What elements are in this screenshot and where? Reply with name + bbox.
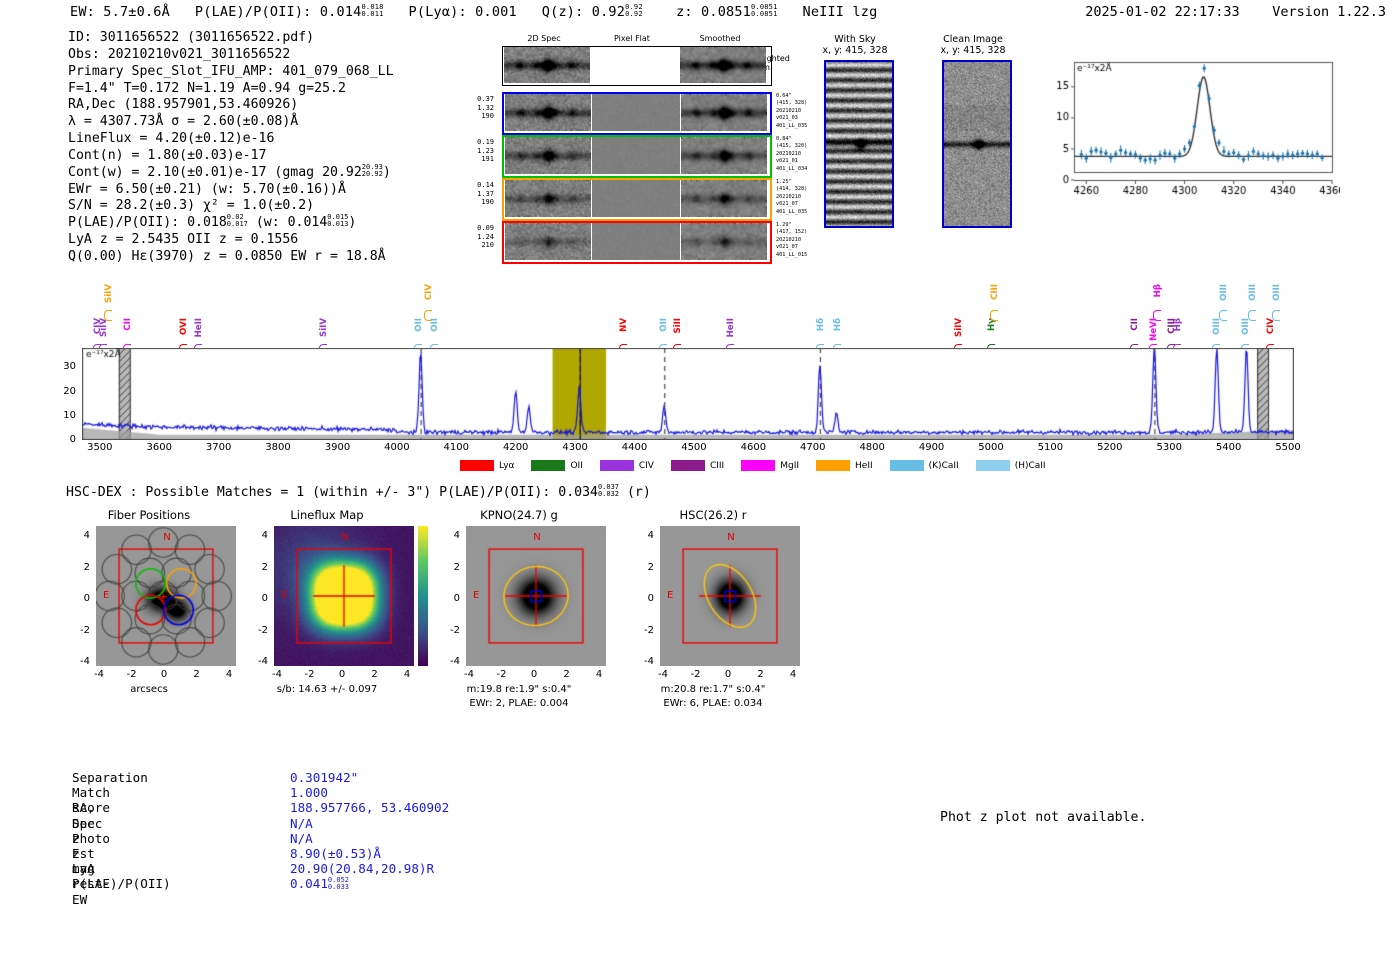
cutout-panel: Fiber Positions420-2-4-4-2024arcsecsNE [62,508,236,718]
cutout-y-tick: 4 [62,530,90,541]
spec2d-row[interactable] [502,135,772,178]
legend-label: MgII [780,461,799,471]
clean-image-label: Clean Image [918,34,1028,45]
spectrum-x-tick: 4300 [553,442,597,453]
info-cont-w-tail: ) [383,165,391,180]
target-info-block: ID: 3011656522 (3011656522.pdf) Obs: 202… [68,30,394,266]
spectrum-x-tick: 4200 [494,442,538,453]
cutout-x-tick: 4 [782,669,804,680]
legend-item: OII [531,460,582,471]
legend-item: (H)CaII [976,460,1046,471]
spec2d-col-header-pixelflat: Pixel Flat [592,34,672,43]
legend-swatch [741,460,775,471]
cutout-caption-2: EWr: 2, PLAE: 0.004 [432,698,606,709]
spectrum-x-tick: 4100 [434,442,478,453]
spectrum-line-bracket [1153,310,1161,321]
spectrum-line-label: NV [619,318,629,332]
match-row-value: 0.0410.0520.033 [290,876,349,892]
spec2d-stat-value: 191 [460,155,494,164]
legend-item: HeII [816,460,873,471]
spectrum-x-tick: 5200 [1088,442,1132,453]
clean-image-title: Clean Image x, y: 415, 328 [918,34,1028,56]
cutout-panel-title: HSC(26.2) r [626,508,800,522]
header-ew: EW: 5.7±0.6Å [70,4,170,20]
legend-label: (H)CaII [1015,461,1046,471]
spec2d-stat-value: 1.24 [460,233,494,242]
header-summary-line: EW: 5.7±0.6Å P(LAE)/P(OII): 0.0140.0180.… [70,4,877,20]
cutout-y-tick: -4 [432,656,460,667]
legend-swatch [976,460,1010,471]
cutout-x-tick: 2 [364,669,386,680]
cutout-panel-title: Fiber Positions [62,508,236,522]
cutout-x-tick: 2 [186,669,208,680]
cutout-caption-1: m:20.8 re:1.7" s:0.4" [626,684,800,695]
cutout-y-tick: 4 [626,530,654,541]
legend-swatch [890,460,924,471]
spectrum-line-label: CII [123,318,133,331]
info-plae-lo: 0.017 [227,221,248,228]
spectrum-y-tick: 0 [50,434,76,445]
spectrum-x-tick: 4800 [850,442,894,453]
spectrum-y-tick: 30 [50,361,76,372]
legend-item: (K)CaII [890,460,959,471]
cutout-panel-image[interactable] [466,526,606,666]
spectrum-line-label: Hβ [1153,284,1163,297]
version-label: Version 1.22.3 [1272,4,1386,20]
emission-line-zoom-canvas[interactable] [1040,52,1340,210]
spec2d-row[interactable] [502,178,772,221]
spec2d-pixelflat-cell [592,180,680,217]
full-spectrum-section: CIVSiIVSiIVCIIOVIHeIISiIVOIICIVOIINVOIIS… [0,276,1400,471]
spectrum-x-tick: 3600 [137,442,181,453]
cutout-y-tick: -4 [240,656,268,667]
spectrum-line-label: Hδ [833,318,843,331]
legend-label: CIII [710,461,724,471]
spec2d-row-stats: 0.371.32190 [460,95,494,121]
with-sky-label: With Sky [800,34,910,45]
info-line: LineFlux = 4.20(±0.12)e-16 [68,131,394,148]
lineflux-colorbar [418,526,428,666]
spec2d-stat-value: 0.14 [460,181,494,190]
cutout-y-tick: 2 [626,562,654,573]
legend-label: (K)CaII [929,461,959,471]
spectrum-line-label: OIII [1248,284,1258,301]
spectrum-line-label: OIII [1212,318,1222,335]
cutout-y-tick: -2 [626,625,654,636]
cutout-x-tick: 4 [218,669,240,680]
cutout-y-tick: 0 [62,593,90,604]
spec2d-image-cell [505,223,591,260]
header-plae-value: 0.014 [320,4,362,20]
spectrum-line-markers: CIVSiIVSiIVCIIOVIHeIISiIVOIICIVOIINVOIIS… [0,276,1400,348]
legend-swatch [460,460,494,471]
spectrum-line-bracket [1272,310,1280,321]
spec2d-pixelflat-cell [592,137,680,174]
spectrum-x-tick: 4500 [672,442,716,453]
spec2d-row-stats: 0.141.37190 [460,181,494,207]
spec2d-stat-value: 1.32 [460,104,494,113]
spectrum-line-label: CIII [990,284,1000,300]
spectrum-line-label: OII [659,318,669,332]
spectrum-line-label: OII [414,318,424,332]
cutout-panel-image[interactable] [660,526,800,666]
match-row-value: 1.000 [290,785,328,800]
cutout-y-tick: 4 [240,530,268,541]
cutout-x-tick: 0 [331,669,353,680]
header-z-lo: 0.0851 [751,11,778,18]
spectrum-x-tick: 3900 [315,442,359,453]
spec2d-image-cell [505,137,591,174]
spectrum-x-tick: 3700 [197,442,241,453]
info-z-line: LyA z = 2.5435 OII z = 0.1556 [68,232,394,249]
cutout-y-tick: 0 [626,593,654,604]
compass-north-label: N [341,532,348,543]
info-line: λ = 4307.73Å σ = 2.60(±0.08)Å [68,114,394,131]
compass-north-label: N [533,532,540,543]
spectrum-line-label: OIII [1272,284,1282,301]
spectrum-x-tick: 5400 [1207,442,1251,453]
legend-item: Lyα [460,460,514,471]
match-row-value: 20.90(20.84,20.98)R [290,861,434,876]
spectrum-line-label: CIV [424,284,434,300]
cutout-panel-title: Lineflux Map [240,508,414,522]
cutout-y-tick: 0 [240,593,268,604]
hscdex-band: (r) [627,485,651,500]
header-plae-label: P(LAE)/P(OII): [195,4,312,20]
spectrum-x-tick: 5500 [1266,442,1310,453]
clean-image-coords: x, y: 415, 328 [918,45,1028,56]
info-plae-pre: P(LAE)/P(OII): 0.018 [68,215,227,230]
spectrum-x-tick: 4700 [791,442,835,453]
spectrum-y-tick: 10 [50,410,76,421]
spec2d-stat-value: 0.19 [460,138,494,147]
spec2d-pixelflat-cell [592,223,680,260]
hscdex-lo: 0.032 [598,491,619,498]
info-line: RA,Dec (188.957901,53.460926) [68,97,394,114]
info-line: Primary Spec_Slot_IFU_AMP: 401_079_068_L… [68,64,394,81]
spec2d-image-cell [681,137,767,174]
cutout-x-tick: 2 [750,669,772,680]
spec2d-row-stats: 0.191.23191 [460,138,494,164]
spectrum-line-label: OVI [179,318,189,335]
cutout-panel-image[interactable] [274,526,414,666]
info-plae: P(LAE)/P(OII): 0.0180.020.017 (w: 0.0140… [68,215,394,232]
spectrum-line-label: SiIV [319,318,329,337]
cutout-panel-title: KPNO(24.7) g [432,508,606,522]
cutout-x-tick: -4 [266,669,288,680]
legend-item: MgII [741,460,799,471]
spectrum-line-label: Hβ [1173,318,1183,331]
legend-item: CIV [600,460,654,471]
with-sky-coords: x, y: 415, 328 [800,45,910,56]
info-line: ID: 3011656522 (3011656522.pdf) [68,30,394,47]
match-plae-lo: 0.033 [328,884,349,891]
spec2d-image-cell [680,47,766,83]
spec2d-image-cell [505,180,591,217]
cutout-y-tick: 2 [62,562,90,573]
spec2d-image-cell [504,47,590,83]
spec2d-col-header-smoothed: Smoothed [680,34,760,43]
spectrum-line-label: HeII [194,318,204,337]
spectrum-y-tick: 20 [50,386,76,397]
info-plae-end: ) [348,215,356,230]
spec2d-stat-value: 1.23 [460,147,494,156]
cutout-y-tick: 4 [432,530,460,541]
info-plae-mid: (w: 0.014 [256,215,327,230]
spectrum-line-label: NeVI [1149,318,1159,341]
match-row-key: Separation [72,770,148,785]
match-row-value: N/A [290,831,313,846]
legend-label: CIV [639,461,654,471]
legend-swatch [531,460,565,471]
cutout-x-tick: -2 [491,669,513,680]
info-line: F=1.4" T=0.172 N=1.19 A=0.94 g=25.2 [68,81,394,98]
spectrum-x-tick: 3800 [256,442,300,453]
spectrum-line-label: SiIV [954,318,964,337]
cutout-caption-2: EWr: 6, PLAE: 0.034 [626,698,800,709]
cutout-x-tick: 4 [396,669,418,680]
cutout-panel: Lineflux Map420-2-4-4-2024s/b: 14.63 +/-… [240,508,414,718]
spectrum-line-bracket [1219,310,1227,321]
cutout-axis-label: arcsecs [62,684,236,695]
cutout-caption-1: m:19.8 re:1.9" s:0.4" [432,684,606,695]
match-row-value: N/A [290,816,313,831]
spectrum-line-label: OIII [1219,284,1229,301]
spec2d-stat-value: 0.09 [460,224,494,233]
spectrum-line-label: OII [430,318,440,332]
header-plya: P(Lyα): 0.001 [409,4,517,20]
timestamp: 2025-01-02 22:17:33 [1085,4,1239,20]
legend-label: OII [570,461,582,471]
cutout-y-tick: 2 [432,562,460,573]
spec2d-stat-value: 0.37 [460,95,494,104]
compass-east-label: E [667,590,673,601]
cutout-y-tick: -2 [432,625,460,636]
header-z-value: 0.0851 [701,4,751,20]
match-row-value: 0.301942" [290,770,358,785]
info-plae-w-lo: 0.013 [327,221,348,228]
match-row-key: mag [72,861,95,876]
spectrum-x-tick: 5000 [969,442,1013,453]
match-row-value: 8.90(±0.53)Å [290,846,381,861]
match-plae-value: 0.041 [290,876,328,891]
clean-image-cutout[interactable] [942,60,1012,228]
info-line: Obs: 20210210v021_3011656522 [68,47,394,64]
header-timestamp-version: 2025-01-02 22:17:33 Version 1.22.3 [1085,4,1386,20]
spectrum-x-tick: 4600 [731,442,775,453]
spectrum-legend: LyαOIICIVCIIIMgIIHeII(K)CaII(H)CaII [460,460,1063,471]
spec2d-pixelflat-cell [591,47,679,83]
cutout-y-tick: -4 [62,656,90,667]
spec2d-stat-value: 190 [460,198,494,207]
legend-swatch [671,460,705,471]
spec2d-row[interactable] [502,92,772,135]
spec2d-pixelflat-cell [592,94,680,131]
spec2d-stat-value: 210 [460,241,494,250]
cutout-x-tick: 2 [556,669,578,680]
spectrum-line-bracket [104,310,112,321]
spectrum-x-tick: 4400 [613,442,657,453]
cutout-y-tick: -4 [626,656,654,667]
info-cont-w-text: Cont(w) = 2.10(±0.01)e-17 (gmag 20.92 [68,165,362,180]
top-cutouts: With Sky x, y: 415, 328 Clean Image x, y… [800,34,1030,264]
spectrum-line-bracket [1248,310,1256,321]
legend-label: Lyα [499,461,514,471]
info-ewr: EWr = 6.50(±0.21) (w: 5.70(±0.16))Å [68,182,394,199]
cutout-x-tick: 0 [717,669,739,680]
cutout-x-tick: 0 [153,669,175,680]
hscdex-title: HSC-DEX : Possible Matches = 1 (within +… [66,485,651,500]
compass-north-label: N [727,532,734,543]
cutout-axis-label: s/b: 14.63 +/- 0.097 [240,684,414,695]
spec2d-row-stats: 0.091.24210 [460,224,494,250]
legend-swatch [600,460,634,471]
spec2d-image-cell [681,180,767,217]
cutout-panel-image[interactable] [96,526,236,666]
spectrum-line-label: Hδ [816,318,826,331]
cutout-y-tick: 0 [432,593,460,604]
info-q-line: Q(0.00) Hε(3970) z = 0.0850 EW r = 18.8Å [68,249,394,266]
cutout-x-tick: -4 [458,669,480,680]
info-line: Cont(n) = 1.80(±0.03)e-17 [68,148,394,165]
cutout-panel-grid: Fiber Positions420-2-4-4-2024arcsecsNELi… [0,508,1400,718]
hscdex-title-text: HSC-DEX : Possible Matches = 1 (within +… [66,485,598,500]
info-cont-w-lo: 20.92 [362,171,383,178]
cutout-y-tick: -2 [240,625,268,636]
spec2d-image-cell [681,94,767,131]
spectrum-x-tick: 5300 [1147,442,1191,453]
cutout-x-tick: -2 [685,669,707,680]
compass-east-label: E [103,590,109,601]
spectrum-x-tick: 5100 [1028,442,1072,453]
match-row-key: P(LAE)/P(OII) [72,876,171,891]
cutout-x-tick: -2 [299,669,321,680]
spec2d-weighted-sum-panel[interactable] [502,46,772,86]
spectrum-line-label: CII [1130,318,1140,331]
full-spectrum-canvas[interactable] [82,348,1294,440]
spectrum-line-bracket [990,310,998,321]
cutout-panel: HSC(26.2) r420-2-4-4-2024m:20.8 re:1.7" … [626,508,800,718]
legend-swatch [816,460,850,471]
compass-east-label: E [281,590,287,601]
spec2d-stat-value: 190 [460,112,494,121]
cutout-y-tick: 2 [240,562,268,573]
match-row-value: 188.957766, 53.460902 [290,800,449,815]
cutout-panel: KPNO(24.7) g420-2-4-4-2024m:19.8 re:1.9"… [432,508,606,718]
spec2d-image-cell [505,94,591,131]
cutout-x-tick: -4 [88,669,110,680]
cutout-y-tick: -2 [62,625,90,636]
header-plae-lo: 0.011 [361,11,383,18]
spectrum-line-label: SiII [673,318,683,334]
emission-line-zoom-plot[interactable] [1040,52,1340,210]
legend-item: CIII [671,460,724,471]
spectrum-x-tick: 4900 [910,442,954,453]
compass-north-label: N [163,532,170,543]
header-flags: NeIII lzg [803,4,878,20]
cutout-x-tick: 0 [523,669,545,680]
compass-east-label: E [473,590,479,601]
spec2d-stat-value: 1.37 [460,190,494,199]
with-sky-title: With Sky x, y: 415, 328 [800,34,910,56]
legend-label: HeII [855,461,873,471]
with-sky-cutout[interactable] [824,60,894,228]
photoz-note: Phot z plot not available. [940,810,1146,825]
info-cont-w: Cont(w) = 2.10(±0.01)e-17 (gmag 20.9220.… [68,165,394,182]
spectrum-x-tick: 3500 [78,442,122,453]
header-z-label: z: [676,4,693,20]
header-qz-label: Q(z): [542,4,584,20]
header-qz-value: 0.92 [592,4,625,20]
cutout-x-tick: 4 [588,669,610,680]
spec2d-image-cell [681,223,767,260]
header-qz-lo: 0.92 [625,11,643,18]
spectrum-line-label: HeII [726,318,736,337]
spec2d-row[interactable] [502,221,772,264]
spectrum-x-tick: 4000 [375,442,419,453]
cutout-x-tick: -4 [652,669,674,680]
spectrum-line-label: SiIV [104,284,114,303]
spec2d-col-header-2dspec: 2D Spec [504,34,584,43]
cutout-x-tick: -2 [121,669,143,680]
